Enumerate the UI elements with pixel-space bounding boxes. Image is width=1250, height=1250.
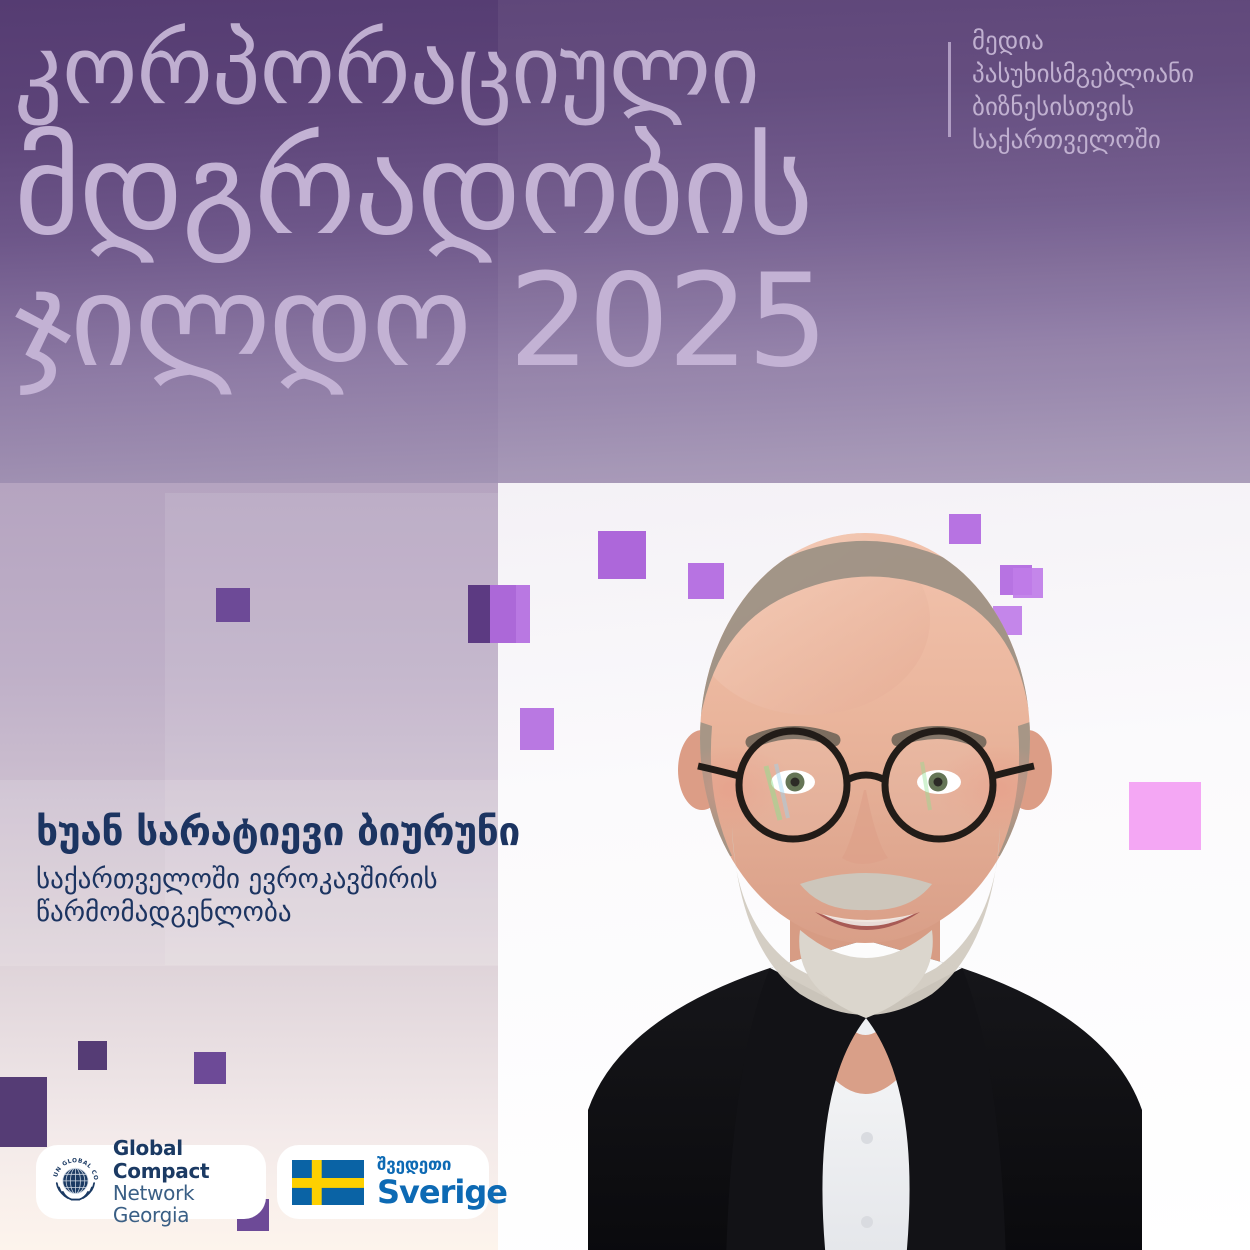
speaker-role-line-1: საქართველოში ევროკავშირის [36,864,506,897]
logo-global-compact: UN GLOBAL COMPACT Global Compact Network… [36,1145,266,1219]
ungc-wordmark: Global Compact Network Georgia [113,1137,266,1227]
square-12 [78,1041,107,1070]
speaker-name: ხუან სარატიევი ბიურუნი [36,812,506,854]
shirt-button [861,1216,873,1228]
sweden-line-2: Sverige [377,1176,507,1208]
shirt-button [861,1132,873,1144]
speaker-role: საქართველოში ევროკავშირის წარმომადგენლობ… [36,864,506,930]
title-divider [948,42,951,137]
subtitle-line-4: საქართველოში [972,123,1194,156]
title-line-3: ჯილდო 2025 [14,258,1234,386]
subtitle-line-1: მედია [972,24,1194,57]
header-subtitle: მედია პასუხისმგებლიანი ბიზნესისთვის საქა… [972,24,1194,156]
poster-canvas: კორპორაციული მდგრადობის ჯილდო 2025 მედია… [0,0,1250,1250]
logo-sweden: შვედეთი Sverige [277,1145,489,1219]
square-14 [194,1052,226,1084]
ungc-line-1: Global Compact [113,1137,266,1182]
sweden-flag-icon [291,1160,365,1205]
square-13 [0,1077,47,1147]
un-global-compact-icon: UN GLOBAL COMPACT [48,1151,103,1213]
speaker-info: ხუან სარატიევი ბიურუნი საქართველოში ევრო… [36,812,506,930]
sweden-wordmark: შვედეთი Sverige [377,1157,507,1208]
ungc-line-2: Network Georgia [113,1182,266,1227]
square-5 [216,588,250,622]
speaker-photo [470,470,1250,1250]
subtitle-line-3: ბიზნესისთვის [972,90,1194,123]
sweden-line-1: შვედეთი [377,1157,507,1174]
subtitle-line-2: პასუხისმგებლიანი [972,57,1194,90]
speaker-role-line-2: წარმომადგენლობა [36,897,506,930]
